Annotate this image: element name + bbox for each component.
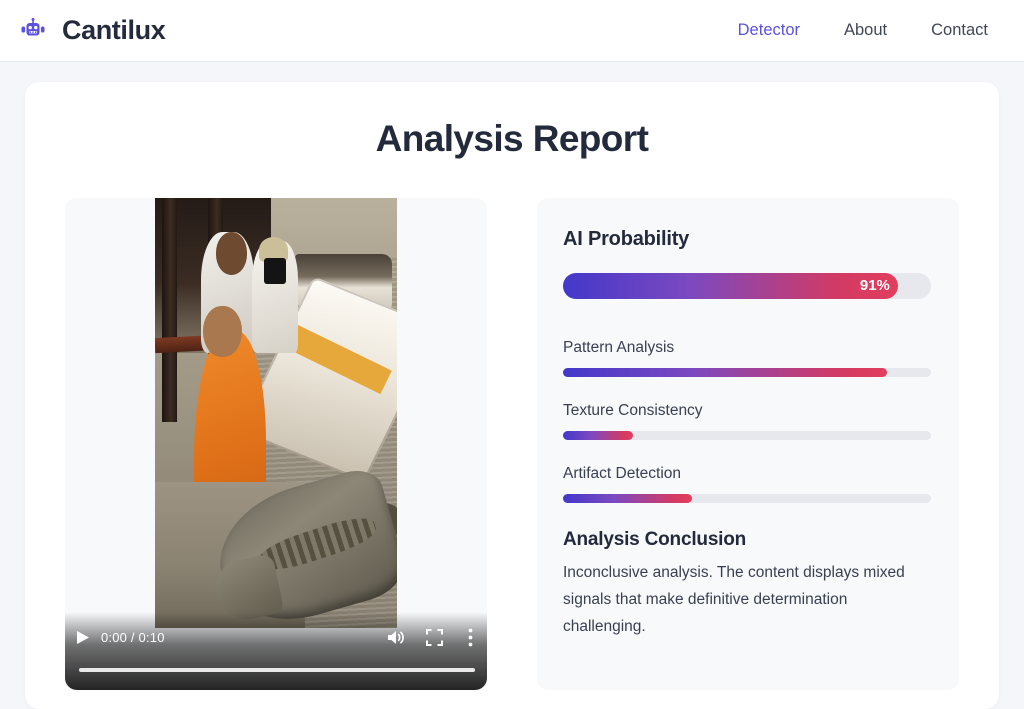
video-progress-bar[interactable] xyxy=(79,668,475,672)
ai-probability-title: AI Probability xyxy=(563,228,931,251)
page-shell: Analysis Report xyxy=(0,62,1024,709)
metric-fill xyxy=(563,494,692,503)
metric-fill xyxy=(563,368,887,377)
main-nav: Detector About Contact xyxy=(738,21,988,40)
metric-artifact-detection: Artifact Detection xyxy=(563,465,931,503)
metric-fill xyxy=(563,431,633,440)
more-options-icon[interactable] xyxy=(453,620,487,654)
nav-link-contact[interactable]: Contact xyxy=(931,21,988,40)
report-grid: 0:00 / 0:10 xyxy=(65,198,959,690)
video-still xyxy=(155,198,397,628)
report-card: Analysis Report xyxy=(25,82,999,709)
results-panel: AI Probability 91% Pattern Analysis Text… xyxy=(537,198,959,690)
video-controls: 0:00 / 0:10 xyxy=(65,612,487,690)
video-time-display: 0:00 / 0:10 xyxy=(101,630,165,645)
nav-link-about[interactable]: About xyxy=(844,21,887,40)
play-button[interactable] xyxy=(65,620,101,654)
brand-name: Cantilux xyxy=(62,15,165,46)
fullscreen-icon[interactable] xyxy=(415,620,453,654)
metric-label: Texture Consistency xyxy=(563,402,931,420)
site-header: Cantilux Detector About Contact xyxy=(0,0,1024,62)
conclusion-text: Inconclusive analysis. The content displ… xyxy=(563,559,931,640)
metric-track xyxy=(563,368,931,377)
metric-texture-consistency: Texture Consistency xyxy=(563,402,931,440)
metric-label: Artifact Detection xyxy=(563,465,931,483)
metric-label: Pattern Analysis xyxy=(563,339,931,357)
nav-link-detector[interactable]: Detector xyxy=(738,21,800,40)
robot-icon xyxy=(16,14,50,48)
ai-probability-fill xyxy=(563,273,898,299)
ai-probability-value: 91% xyxy=(860,273,890,299)
metric-track xyxy=(563,494,931,503)
video-player[interactable] xyxy=(155,198,397,628)
metric-track xyxy=(563,431,931,440)
media-panel: 0:00 / 0:10 xyxy=(65,198,487,690)
page-title: Analysis Report xyxy=(65,118,959,160)
metric-pattern-analysis: Pattern Analysis xyxy=(563,339,931,377)
volume-icon[interactable] xyxy=(377,620,415,654)
brand[interactable]: Cantilux xyxy=(16,14,165,48)
ai-probability-meter: 91% xyxy=(563,273,931,299)
conclusion-title: Analysis Conclusion xyxy=(563,529,931,551)
